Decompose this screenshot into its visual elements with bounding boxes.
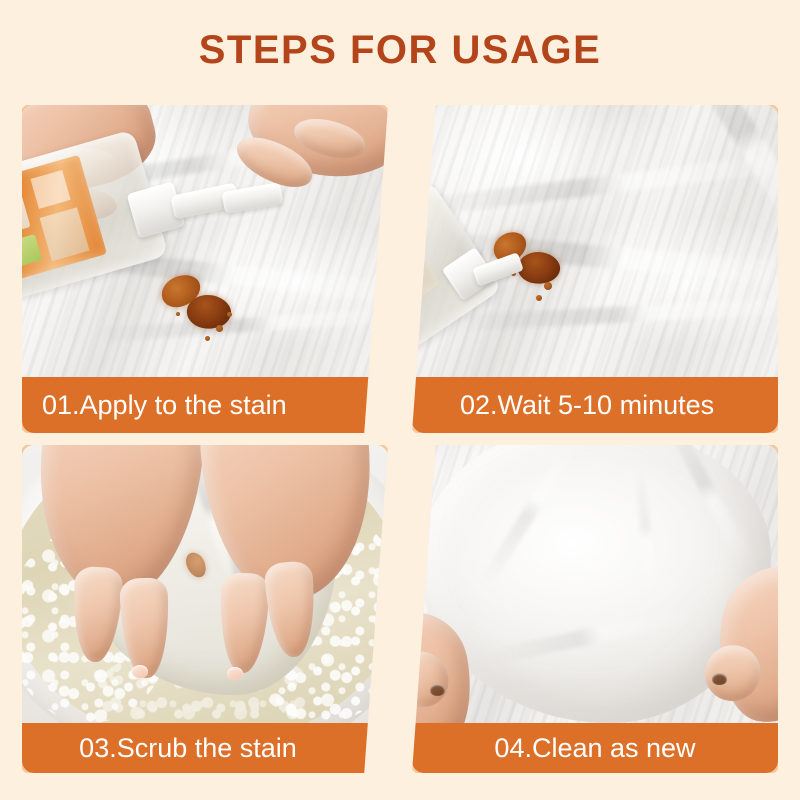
step-photo-01 xyxy=(22,105,388,377)
step-card-02[interactable]: 02.Wait 5-10 minutes xyxy=(412,105,778,433)
step-caption-02: 02.Wait 5-10 minutes xyxy=(412,377,778,433)
step-photo-02 xyxy=(412,105,778,377)
step-caption-01: 01.Apply to the stain xyxy=(22,377,388,433)
step-card-04[interactable]: 04.Clean as new xyxy=(412,445,778,773)
page-title: STEPS FOR USAGE xyxy=(0,30,800,70)
step-card-03[interactable]: 03.Scrub the stain xyxy=(22,445,388,773)
steps-grid: 01.Apply to the stain xyxy=(22,105,778,773)
step-card-01[interactable]: 01.Apply to the stain xyxy=(22,105,388,433)
step-caption-04: 04.Clean as new xyxy=(412,723,778,773)
step-photo-03 xyxy=(22,445,388,723)
step-photo-04 xyxy=(412,445,778,723)
step-caption-03: 03.Scrub the stain xyxy=(22,723,388,773)
